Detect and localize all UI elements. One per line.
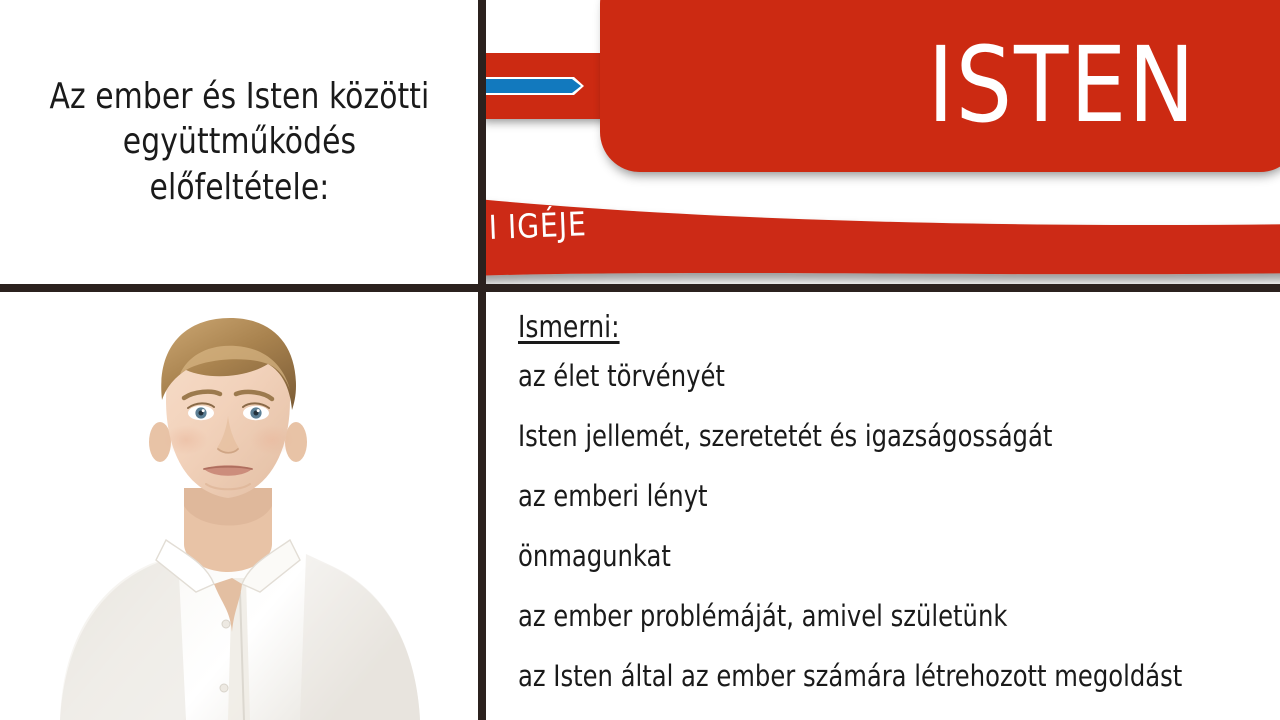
page-title: Az ember és Isten közötti együttműködés … xyxy=(49,74,429,210)
horizontal-divider xyxy=(0,284,1280,292)
red-ribbon-shape xyxy=(486,180,1280,284)
list-item: az élet törvényét xyxy=(518,362,1219,391)
list-item: önmagunkat xyxy=(518,542,1219,571)
slide-canvas: Az ember és Isten közötti együttműködés … xyxy=(0,0,1280,720)
content-list-panel: Ismerni: az élet törvényét Isten jellemé… xyxy=(486,292,1280,720)
blue-arrow-icon xyxy=(486,74,590,98)
title-panel: Az ember és Isten közötti együttműködés … xyxy=(0,0,478,284)
list-item: az emberi lényt xyxy=(518,482,1219,511)
portrait-photo-panel xyxy=(0,292,478,720)
diagram-graphic: I IGÉJE ISTEN xyxy=(486,0,1280,284)
list-item: Isten jellemét, szeretetét és igazságoss… xyxy=(518,422,1219,451)
list-item: az Isten által az ember számára létrehoz… xyxy=(518,662,1219,691)
portrait-photo xyxy=(0,292,478,720)
vertical-divider xyxy=(478,0,486,720)
list-heading: Ismerni: xyxy=(518,310,1219,345)
diagram-panel: I IGÉJE ISTEN xyxy=(486,0,1280,284)
ribbon-label: I IGÉJE xyxy=(488,204,587,247)
red-tag-shape: ISTEN xyxy=(600,0,1280,172)
red-tag-label: ISTEN xyxy=(618,0,1280,172)
list-item: az ember problémáját, amivel születünk xyxy=(518,602,1219,631)
